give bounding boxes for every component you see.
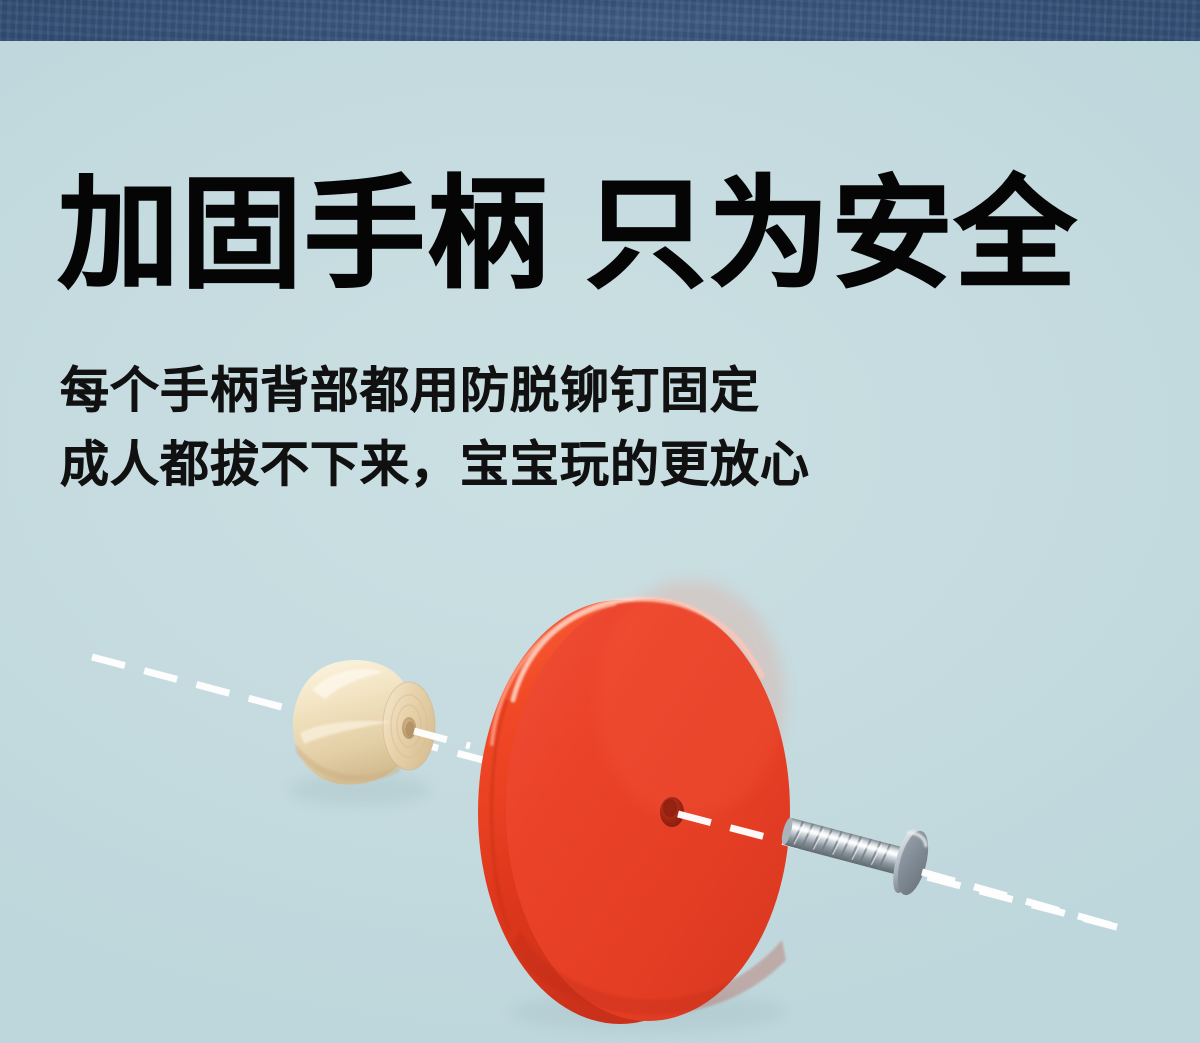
page-headline: 加固手柄 只为安全	[58, 170, 1078, 298]
subtitle-block: 每个手柄背部都用防脱铆钉固定 成人都拔不下来，宝宝玩的更放心	[60, 358, 810, 498]
top-accent-band	[0, 0, 1200, 41]
subtitle-line-2: 成人都拔不下来，宝宝玩的更放心	[60, 432, 810, 499]
subtitle-line-1: 每个手柄背部都用防脱铆钉固定	[60, 358, 810, 425]
promo-banner-page: 加固手柄 只为安全 每个手柄背部都用防脱铆钉固定 成人都拔不下来，宝宝玩的更放心	[0, 0, 1200, 1043]
